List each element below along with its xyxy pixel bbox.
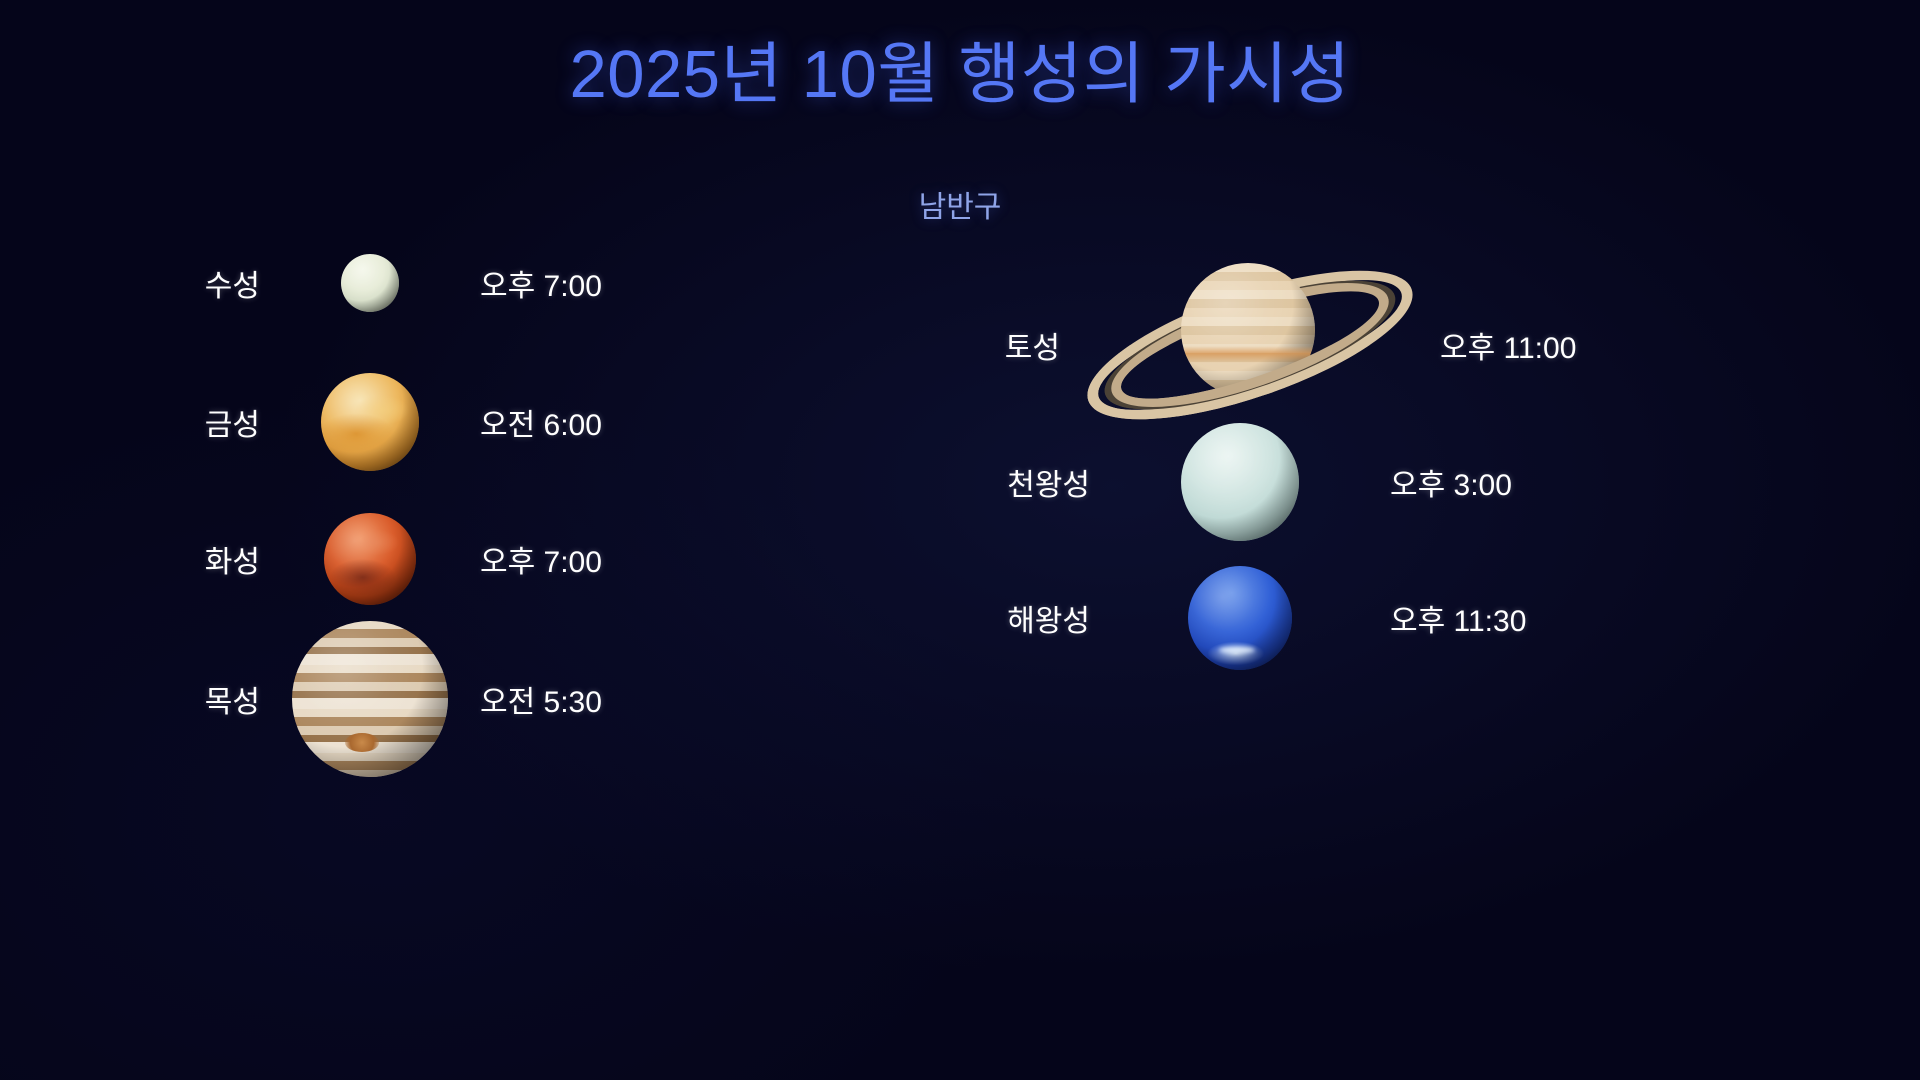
saturn-planet-icon bbox=[1060, 255, 1440, 435]
planet-name-venus: 금성 bbox=[120, 400, 260, 444]
saturn-equatorial-band bbox=[1181, 346, 1315, 363]
planet-row-mercury: 수성 오후 7:00 bbox=[120, 252, 840, 314]
uranus-planet-icon bbox=[1090, 422, 1390, 542]
neptune-planet-icon bbox=[1090, 565, 1390, 671]
planet-name-uranus: 천왕성 bbox=[900, 460, 1090, 504]
venus-planet-icon bbox=[260, 372, 480, 472]
mars-planet-icon bbox=[260, 512, 480, 606]
page-subtitle: 남반구 bbox=[0, 182, 1920, 226]
jupiter-planet-icon bbox=[260, 620, 480, 778]
planet-row-saturn: 토성 오후 11:00 bbox=[900, 255, 1780, 435]
planet-row-neptune: 해왕성 오후 11:30 bbox=[900, 565, 1780, 671]
slide-root: 2025년 10월 행성의 가시성 남반구 수성 오후 7:00 금성 오전 6… bbox=[0, 0, 1920, 1080]
planet-row-mars: 화성 오후 7:00 bbox=[120, 512, 840, 606]
planet-row-jupiter: 목성 오전 5:30 bbox=[120, 620, 840, 778]
planet-row-venus: 금성 오전 6:00 bbox=[120, 372, 840, 472]
planet-name-saturn: 토성 bbox=[900, 323, 1060, 367]
page-title: 2025년 10월 행성의 가시성 bbox=[0, 38, 1920, 112]
planet-row-uranus: 천왕성 오후 3:00 bbox=[900, 422, 1780, 542]
planet-time-venus: 오전 6:00 bbox=[480, 400, 602, 444]
mercury-planet-icon bbox=[260, 252, 480, 314]
planet-name-neptune: 해왕성 bbox=[900, 596, 1090, 640]
planet-time-mercury: 오후 7:00 bbox=[480, 261, 602, 305]
planet-time-neptune: 오후 11:30 bbox=[1390, 596, 1526, 640]
planet-name-mars: 화성 bbox=[120, 537, 260, 581]
planet-name-mercury: 수성 bbox=[120, 261, 260, 305]
neptune-cloud-streak bbox=[1219, 647, 1254, 653]
jupiter-great-red-spot bbox=[345, 733, 379, 752]
planet-time-jupiter: 오전 5:30 bbox=[480, 677, 602, 721]
planet-name-jupiter: 목성 bbox=[120, 677, 260, 721]
planet-time-saturn: 오후 11:00 bbox=[1440, 323, 1576, 367]
planet-time-uranus: 오후 3:00 bbox=[1390, 460, 1512, 504]
planet-time-mars: 오후 7:00 bbox=[480, 537, 602, 581]
